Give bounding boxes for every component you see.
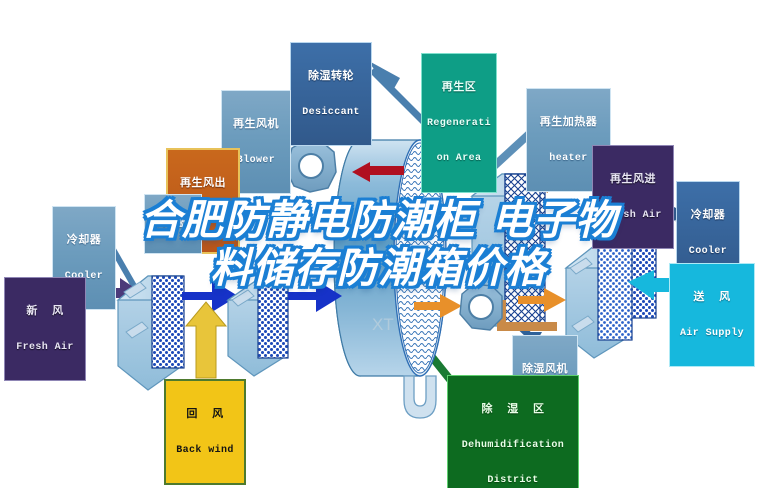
label-regeneration-heater-cn: 再生加热器 [531, 116, 606, 128]
label-air-supply-en: Air Supply [674, 328, 750, 339]
label-cooler-left-cn: 冷却器 [57, 234, 111, 246]
label-dehumidify-blower-cn: 除湿风机 [517, 363, 573, 375]
dehumidifier-flow-diagram: XT [0, 0, 757, 488]
label-cooler-mid-cn: 冷却器 [148, 218, 198, 229]
label-regeneration-area-en1: Regenerati [426, 118, 492, 129]
label-cooler-right-en: Cooler [681, 246, 735, 257]
label-regen-fresh-air-in: 再生风进 Fresh Air [592, 145, 674, 249]
label-regen-fresh-air-in-cn: 再生风进 [597, 173, 669, 185]
label-regeneration-blower-cn: 再生风机 [226, 118, 286, 130]
label-dehumidification-district-en2: District [452, 475, 574, 486]
label-back-wind-cn: 回 风 [170, 408, 240, 420]
label-fresh-air-in-cn: 新 风 [9, 305, 81, 317]
label-fresh-air-in-en: Fresh Air [9, 342, 81, 353]
drain-pan [404, 376, 436, 418]
label-regeneration-area: 再生区 Regenerati on Area [421, 53, 497, 193]
cooler-coil-left [118, 276, 184, 390]
label-dehumidification-district: 除 湿 区 Dehumidification District [447, 375, 579, 488]
label-regeneration-area-en2: on Area [426, 153, 492, 164]
cooler-coil-mid [228, 282, 288, 376]
label-desiccant-wheel-cn: 除湿转轮 [295, 70, 367, 82]
label-cooler-mid: 冷却器 [144, 194, 202, 254]
label-exhaust-cn: 再生风出 [172, 177, 234, 189]
label-air-supply: 送 风 Air Supply [669, 263, 755, 367]
label-desiccant-wheel-en: Desiccant [295, 107, 367, 118]
rotor-watermark: XT [372, 315, 394, 334]
label-regeneration-area-cn: 再生区 [426, 81, 492, 93]
label-back-wind-en: Back wind [170, 445, 240, 456]
label-cooler-right-cn: 冷却器 [681, 209, 735, 221]
label-dehumidification-district-cn: 除 湿 区 [452, 403, 574, 415]
label-air-supply-cn: 送 风 [674, 291, 750, 303]
regen-blower-housing [286, 140, 336, 192]
label-regen-fresh-air-in-en: Fresh Air [597, 210, 669, 221]
dehumidify-blower-housing [460, 284, 502, 330]
label-dehumidification-district-en1: Dehumidification [452, 440, 574, 451]
label-desiccant-wheel: 除湿转轮 Desiccant [290, 42, 372, 146]
arrow-back-wind-up [186, 302, 226, 378]
arrow-process-blue-2 [288, 280, 342, 312]
label-back-wind: 回 风 Back wind [164, 379, 246, 485]
label-fresh-air-in: 新 风 Fresh Air [4, 277, 86, 381]
